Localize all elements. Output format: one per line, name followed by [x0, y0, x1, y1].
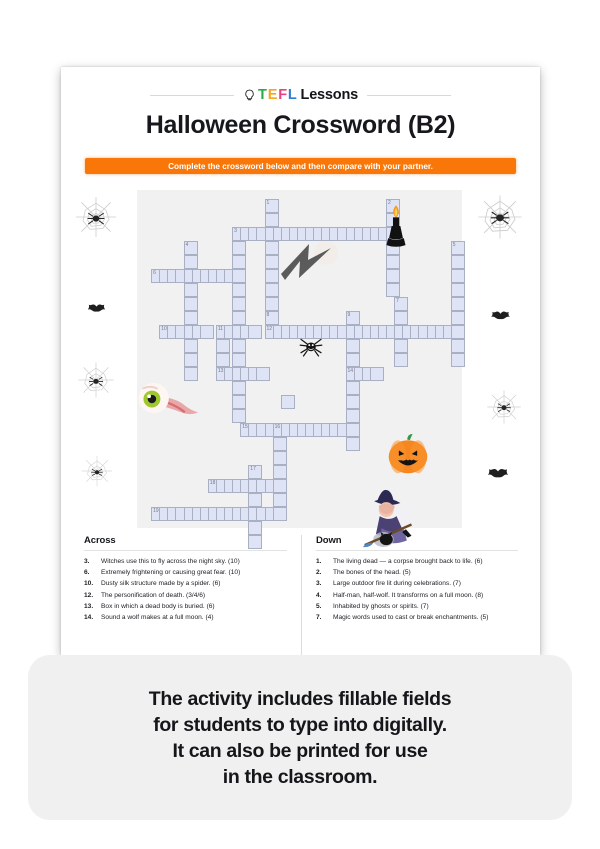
- crossword-cell[interactable]: [451, 311, 465, 325]
- logo-rule-right: [367, 95, 451, 96]
- crossword-cell[interactable]: [386, 213, 400, 227]
- crossword-cell[interactable]: [232, 409, 246, 423]
- cell-number: 4: [186, 242, 189, 248]
- clue-number: 5.: [316, 601, 329, 612]
- spider-web-icon: [75, 359, 117, 401]
- clue-item: 10.Dusty silk structure made by a spider…: [84, 578, 287, 589]
- crossword-cell[interactable]: [232, 395, 246, 409]
- crossword-cell-numbered[interactable]: 9: [346, 311, 360, 325]
- cell-number: 13: [218, 368, 224, 374]
- clue-number: 6.: [84, 567, 97, 578]
- clue-text: Large outdoor fire lit during celebratio…: [333, 578, 461, 589]
- cell-number: 1: [267, 200, 270, 206]
- cell-number: 16: [275, 424, 281, 430]
- crossword-cell[interactable]: [451, 353, 465, 367]
- clue-item: 3.Large outdoor fire lit during celebrat…: [316, 578, 518, 589]
- across-column: Across 3.Witches use this to fly across …: [84, 535, 301, 655]
- crossword-cell[interactable]: [386, 255, 400, 269]
- crossword-cell[interactable]: [273, 451, 287, 465]
- crossword-cell[interactable]: [273, 507, 287, 521]
- crossword-cell[interactable]: [232, 311, 246, 325]
- caption-line-1: The activity includes fillable fields: [149, 686, 451, 712]
- crossword-cell[interactable]: [232, 297, 246, 311]
- crossword-cell[interactable]: [184, 255, 198, 269]
- clue-item: 1.The living dead — a corpse brought bac…: [316, 556, 518, 567]
- crossword-cell[interactable]: [394, 339, 408, 353]
- crossword-cell[interactable]: [346, 409, 360, 423]
- caption-card: The activity includes fillable fields fo…: [28, 655, 572, 820]
- crossword-cell-numbered[interactable]: 4: [184, 241, 198, 255]
- clue-item: 2.The bones of the head. (5): [316, 567, 518, 578]
- crossword-cell[interactable]: [216, 353, 230, 367]
- crossword-cell[interactable]: [265, 283, 279, 297]
- bat-icon: [481, 466, 515, 485]
- crossword-cell[interactable]: [184, 311, 198, 325]
- clue-number: 7.: [316, 612, 329, 623]
- cell-number: 15: [242, 424, 248, 430]
- clue-text: Dusty silk structure made by a spider. (…: [101, 578, 220, 589]
- down-divider: [316, 550, 518, 551]
- crossword-cell[interactable]: [451, 325, 465, 339]
- cell-number: 8: [267, 312, 270, 318]
- crossword-cell[interactable]: [386, 227, 400, 241]
- cell-number: 19: [153, 508, 159, 514]
- crossword-cell[interactable]: [451, 339, 465, 353]
- cell-number: 10: [161, 326, 167, 332]
- crossword-cell[interactable]: [346, 353, 360, 367]
- crossword-cell[interactable]: [232, 353, 246, 367]
- crossword-cell[interactable]: [265, 255, 279, 269]
- clue-item: 7.Magic words used to cast or break ench…: [316, 612, 518, 623]
- logo-rule-left: [150, 95, 234, 96]
- crossword-cell[interactable]: [184, 353, 198, 367]
- logo-letter-f: F: [278, 87, 287, 103]
- crossword-grid[interactable]: 12345678910111213141516171819: [137, 190, 462, 528]
- crossword-cell[interactable]: [232, 381, 246, 395]
- crossword-cell[interactable]: [451, 269, 465, 283]
- spider-web-icon: [78, 452, 116, 490]
- clue-number: 14.: [84, 612, 97, 623]
- clue-text: Half-man, half-wolf. It transforms on a …: [333, 590, 483, 601]
- crossword-cell[interactable]: [256, 367, 270, 381]
- clue-item: 13.Box in which a dead body is buried. (…: [84, 601, 287, 612]
- page-title: Halloween Crossword (B2): [61, 111, 540, 140]
- cursor-arrow-icon: [279, 240, 341, 292]
- clue-text: Extremely frightening or causing great f…: [101, 567, 240, 578]
- crossword-cell[interactable]: [184, 283, 198, 297]
- cell-number: 14: [348, 368, 354, 374]
- crossword-cell[interactable]: [386, 269, 400, 283]
- clue-number: 3.: [316, 578, 329, 589]
- across-heading: Across: [84, 535, 287, 546]
- crossword-cell[interactable]: [346, 423, 360, 437]
- cell-number: 9: [348, 312, 351, 318]
- logo-letter-e: E: [268, 87, 277, 103]
- brand-logo: T E F L Lessons: [61, 87, 540, 103]
- cell-number: 7: [396, 298, 399, 304]
- down-heading: Down: [316, 535, 518, 546]
- clue-number: 13.: [84, 601, 97, 612]
- clue-text: The living dead — a corpse brought back …: [333, 556, 483, 567]
- screenshot-root: T E F L Lessons Halloween Crossword (B2)…: [0, 0, 600, 849]
- eyeball-icon: [134, 380, 200, 420]
- across-clue-list: 3.Witches use this to fly across the nig…: [84, 556, 287, 623]
- crossword-cell[interactable]: [265, 241, 279, 255]
- lightbulb-icon: [243, 89, 256, 102]
- crossword-cell[interactable]: [451, 283, 465, 297]
- logo-mark: T E F L Lessons: [234, 87, 367, 103]
- crossword-cell[interactable]: [451, 297, 465, 311]
- clue-text: The bones of the head. (5): [333, 567, 411, 578]
- bat-icon: [485, 309, 516, 326]
- spider-web-icon: [73, 194, 119, 240]
- clue-item: 5.Inhabited by ghosts or spirits. (7): [316, 601, 518, 612]
- caption-line-2: for students to type into digitally.: [153, 712, 447, 738]
- crossword-cell[interactable]: [346, 437, 360, 451]
- crossword-cell[interactable]: [273, 479, 287, 493]
- crossword-cell[interactable]: [248, 325, 262, 339]
- crossword-cell-numbered[interactable]: 8: [265, 311, 279, 325]
- crossword-cell[interactable]: [451, 255, 465, 269]
- crossword-cell[interactable]: [216, 339, 230, 353]
- crossword-cell[interactable]: [265, 269, 279, 283]
- clue-item: 12.The personification of death. (3/4/6): [84, 590, 287, 601]
- crossword-cell[interactable]: [232, 255, 246, 269]
- crossword-cell[interactable]: [184, 297, 198, 311]
- crossword-cell[interactable]: [273, 493, 287, 507]
- across-divider: [84, 550, 287, 551]
- spider-web-icon: [475, 192, 525, 242]
- clue-text: Witches use this to fly across the night…: [101, 556, 240, 567]
- logo-word: Lessons: [301, 87, 358, 103]
- caption-line-4: in the classroom.: [223, 764, 377, 790]
- crossword-cell[interactable]: [265, 213, 279, 227]
- caption-line-3: It can also be printed for use: [173, 738, 428, 764]
- clue-item: 3.Witches use this to fly across the nig…: [84, 556, 287, 567]
- cell-number: 6: [153, 270, 156, 276]
- crossword-cell[interactable]: [386, 241, 400, 255]
- down-column: Down 1.The living dead — a corpse brough…: [301, 535, 518, 655]
- clue-item: 4.Half-man, half-wolf. It transforms on …: [316, 590, 518, 601]
- cell-number: 3: [234, 228, 237, 234]
- crossword-cell[interactable]: [273, 437, 287, 451]
- crossword-cell[interactable]: [346, 339, 360, 353]
- crossword-cell[interactable]: [394, 311, 408, 325]
- clue-text: Magic words used to cast or break enchan…: [333, 612, 488, 623]
- clue-text: Sound a wolf makes at a full moon. (4): [101, 612, 214, 623]
- cell-number: 17: [250, 466, 256, 472]
- crossword-cell[interactable]: [265, 297, 279, 311]
- instruction-banner: Complete the crossword below and then co…: [85, 158, 516, 174]
- crossword-cell-numbered[interactable]: 5: [451, 241, 465, 255]
- crossword-cell[interactable]: [346, 381, 360, 395]
- crossword-cell[interactable]: [200, 325, 214, 339]
- crossword-cell[interactable]: [281, 395, 295, 409]
- crossword-cell[interactable]: [248, 521, 262, 535]
- logo-letter-t: T: [258, 87, 267, 103]
- crossword-cell[interactable]: [248, 493, 262, 507]
- clue-number: 1.: [316, 556, 329, 567]
- clue-item: 14.Sound a wolf makes at a full moon. (4…: [84, 612, 287, 623]
- cell-number: 11: [218, 326, 223, 332]
- bat-icon: [82, 302, 111, 318]
- clue-number: 2.: [316, 567, 329, 578]
- crossword-cell[interactable]: [232, 283, 246, 297]
- crossword-cell[interactable]: [232, 339, 246, 353]
- crossword-cell-numbered[interactable]: 17: [248, 465, 262, 479]
- clue-text: The personification of death. (3/4/6): [101, 590, 205, 601]
- crossword-cell-numbered[interactable]: 7: [394, 297, 408, 311]
- clue-text: Inhabited by ghosts or spirits. (7): [333, 601, 429, 612]
- cell-number: 12: [267, 326, 273, 332]
- crossword-cell[interactable]: [232, 241, 246, 255]
- clue-number: 10.: [84, 578, 97, 589]
- logo-letter-l: L: [288, 87, 297, 103]
- cell-number: 5: [453, 242, 456, 248]
- clue-item: 6.Extremely frightening or causing great…: [84, 567, 287, 578]
- down-clue-list: 1.The living dead — a corpse brought bac…: [316, 556, 518, 623]
- crossword-cell[interactable]: [232, 269, 246, 283]
- clue-number: 3.: [84, 556, 97, 567]
- crossword-cell[interactable]: [394, 353, 408, 367]
- clue-lists: Across 3.Witches use this to fly across …: [84, 535, 518, 655]
- clue-number: 4.: [316, 590, 329, 601]
- spider-web-icon: [484, 387, 524, 427]
- crossword-cell[interactable]: [184, 339, 198, 353]
- cell-number: 2: [388, 200, 391, 206]
- crossword-cell[interactable]: [273, 465, 287, 479]
- crossword-cell[interactable]: [370, 367, 384, 381]
- clue-text: Box in which a dead body is buried. (6): [101, 601, 215, 612]
- crossword-cell[interactable]: [184, 367, 198, 381]
- crossword-cell[interactable]: [346, 395, 360, 409]
- crossword-cell-numbered[interactable]: 2: [386, 199, 400, 213]
- pumpkin-icon: [385, 432, 431, 476]
- cell-number: 18: [210, 480, 216, 486]
- crossword-cell[interactable]: [386, 283, 400, 297]
- crossword-cell-numbered[interactable]: 1: [265, 199, 279, 213]
- worksheet-page: T E F L Lessons Halloween Crossword (B2)…: [61, 67, 540, 655]
- clue-number: 12.: [84, 590, 97, 601]
